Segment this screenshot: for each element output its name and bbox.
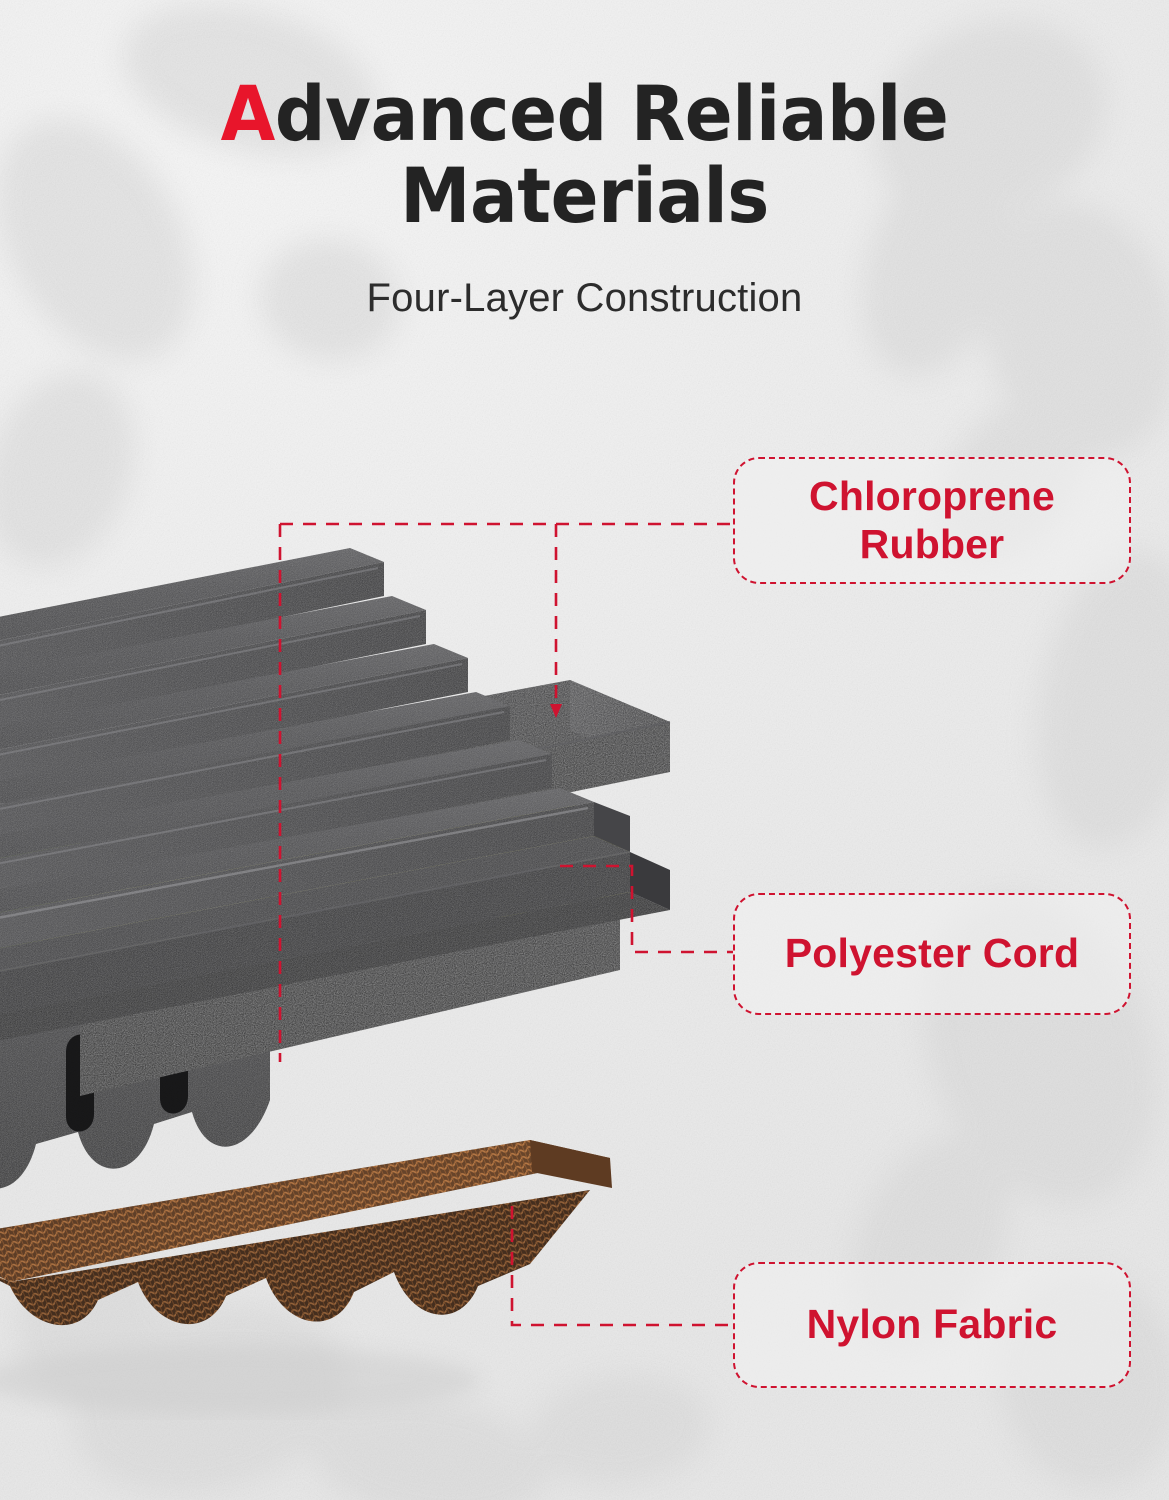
poster-canvas: Advanced Reliable Materials Four-Layer C… bbox=[0, 0, 1169, 1500]
title-line2: Materials bbox=[41, 160, 1128, 232]
callout-chloroprene-text: Chloroprene Rubber bbox=[809, 473, 1055, 569]
page-title: Advanced Reliable Materials bbox=[41, 78, 1128, 232]
title-accent-letter: A bbox=[221, 69, 275, 158]
belt-exploded-illustration bbox=[0, 540, 730, 1420]
callout-nylon-text: Nylon Fabric bbox=[807, 1301, 1058, 1349]
callout-chloroprene-line2: Rubber bbox=[860, 521, 1005, 567]
callout-nylon-fabric[interactable]: Nylon Fabric bbox=[733, 1262, 1131, 1388]
page-subtitle: Four-Layer Construction bbox=[0, 276, 1169, 321]
callout-chloroprene-rubber[interactable]: Chloroprene Rubber bbox=[733, 457, 1131, 584]
callout-chloroprene-line1: Chloroprene bbox=[809, 473, 1055, 519]
header: Advanced Reliable Materials Four-Layer C… bbox=[0, 78, 1169, 321]
title-line1-rest: dvanced Reliable bbox=[275, 69, 949, 158]
callout-polyester-cord[interactable]: Polyester Cord bbox=[733, 893, 1131, 1015]
callout-polyester-text: Polyester Cord bbox=[785, 930, 1079, 978]
